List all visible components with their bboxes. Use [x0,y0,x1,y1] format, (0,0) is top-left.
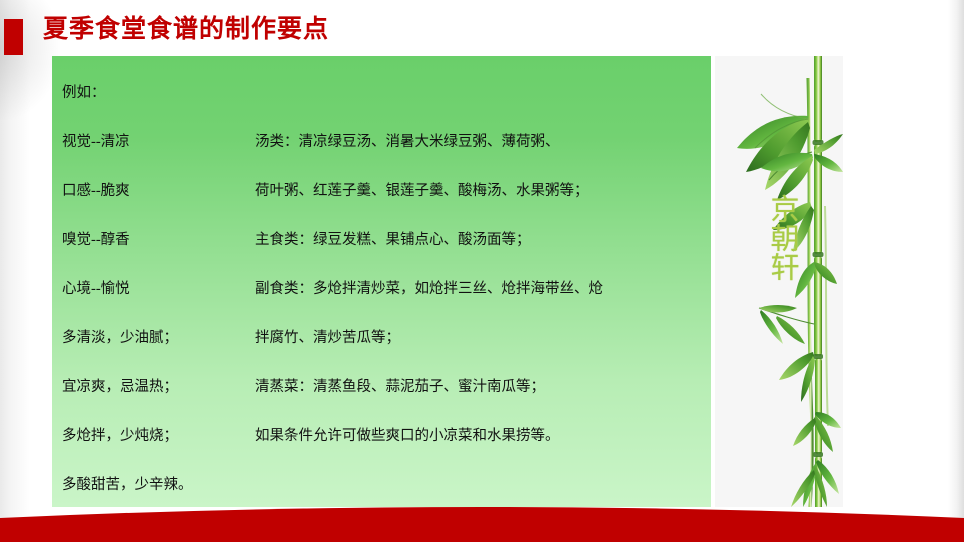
table-row: 多炝拌，少炖烧； 如果条件允许可做些爽口的小凉菜和水果捞等。 [52,412,711,461]
row-right-text: 主食类：绿豆发糕、果铺点心、酸汤面等； [255,216,531,265]
row-left-text: 宜凉爽，忌温热； [62,363,178,412]
row-right-text: 汤类：清凉绿豆汤、消暑大米绿豆粥、薄荷粥、 [255,118,560,167]
row-left-text: 嗅觉--醇香 [62,216,130,265]
left-edge-shading [0,0,30,542]
table-row: 视觉--清凉 汤类：清凉绿豆汤、消暑大米绿豆粥、薄荷粥、 [52,118,711,167]
content-panel: 例如： 视觉--清凉 汤类：清凉绿豆汤、消暑大米绿豆粥、薄荷粥、 口感--脆爽 … [52,56,711,507]
row-right-text: 副食类：多炝拌清炒菜，如炝拌三丝、炝拌海带丝、炝 [255,265,603,314]
row-left-text: 心境--愉悦 [62,265,130,314]
bamboo-side-panel: 京朝轩 [715,56,843,507]
footer-band [0,502,964,542]
table-row: 嗅觉--醇香 主食类：绿豆发糕、果铺点心、酸汤面等； [52,216,711,265]
slide-header: 夏季食堂食谱的制作要点 [0,0,964,56]
page-title: 夏季食堂食谱的制作要点 [43,16,329,45]
row-right-text: 清蒸菜：清蒸鱼段、蒜泥茄子、蜜汁南瓜等； [255,363,545,412]
row-left-text: 多炝拌，少炖烧； [62,412,178,461]
table-row: 心境--愉悦 副食类：多炝拌清炒菜，如炝拌三丝、炝拌海带丝、炝 [52,265,711,314]
row-left-text: 视觉--清凉 [62,118,130,167]
title-accent-block [4,19,23,55]
row-left-text: 口感--脆爽 [62,167,130,216]
table-row: 口感--脆爽 荷叶粥、红莲子羹、银莲子羹、酸梅汤、水果粥等； [52,167,711,216]
footer-curve-shape [0,502,964,542]
table-row: 宜凉爽，忌温热； 清蒸菜：清蒸鱼段、蒜泥茄子、蜜汁南瓜等； [52,363,711,412]
row-right-text: 拌腐竹、清炒苦瓜等； [255,314,400,363]
bamboo-icon [715,56,843,507]
right-edge-shading [948,0,964,542]
content-row-intro: 例如： [52,69,711,118]
row-left-text: 多清淡，少油腻； [62,314,178,363]
row-right-text: 荷叶粥、红莲子羹、银莲子羹、酸梅汤、水果粥等； [255,167,589,216]
table-row: 多清淡，少油腻； 拌腐竹、清炒苦瓜等； [52,314,711,363]
slide-canvas: 夏季食堂食谱的制作要点 例如： 视觉--清凉 汤类：清凉绿豆汤、消暑大米绿豆粥、… [0,0,964,542]
intro-label: 例如： [62,69,106,118]
row-right-text: 如果条件允许可做些爽口的小凉菜和水果捞等。 [255,412,560,461]
side-panel-vertical-text: 京朝轩 [759,194,804,281]
